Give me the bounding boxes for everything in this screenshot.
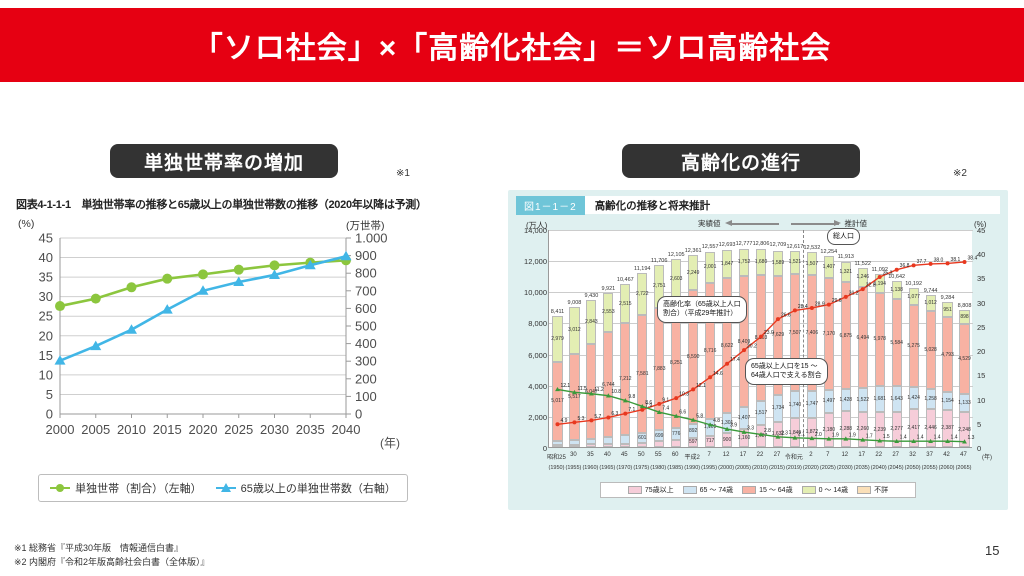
right-chart-y2tick: 15 bbox=[977, 371, 997, 380]
left-chart-ytick: 15 bbox=[39, 348, 53, 363]
right-chart-line-value: 38.1 bbox=[951, 257, 961, 263]
right-chart-line-value: 4.8 bbox=[713, 418, 720, 424]
left-chart-xtick: 2010 bbox=[117, 422, 146, 437]
right-chart-line-value: 38.4 bbox=[968, 255, 978, 261]
right-chart-line-point bbox=[606, 415, 610, 419]
legend-swatch-icon bbox=[683, 486, 697, 494]
right-legend-item-0: 75歳以上 bbox=[628, 485, 674, 495]
right-chart-line-value: 20.2 bbox=[747, 344, 757, 350]
right-chart-lines: 4.95.35.76.37.17.99.110.312.114.617.420.… bbox=[549, 230, 973, 448]
left-chart-xtick: 2020 bbox=[189, 422, 218, 437]
right-chart-y2tick: 35 bbox=[977, 274, 997, 283]
right-chart-line-point bbox=[657, 402, 661, 406]
right-chart-line-value: 37.7 bbox=[917, 259, 927, 265]
right-chart-line-point bbox=[793, 308, 797, 312]
left-chart-xtick: 2015 bbox=[153, 422, 182, 437]
right-chart-line-value: 3.9 bbox=[730, 423, 737, 429]
right-legend-label: 15 ～ 64歳 bbox=[759, 485, 792, 495]
green-line-marker-icon bbox=[50, 487, 70, 489]
callout-total-population: 総人口 bbox=[827, 228, 860, 245]
left-chart-svg: 0510152025303540450100200300400500600700… bbox=[16, 234, 416, 434]
right-chart-line-value: 31.2 bbox=[849, 290, 859, 296]
right-chart-y2tick: 20 bbox=[977, 347, 997, 356]
left-chart-xtick: 2000 bbox=[46, 422, 75, 437]
right-chart-line-point bbox=[878, 275, 882, 279]
left-chart-point bbox=[234, 265, 244, 275]
legend-swatch-icon bbox=[857, 486, 871, 494]
right-chart-line-value: 17.4 bbox=[730, 357, 740, 363]
left-chart-x-unit: (年) bbox=[380, 434, 400, 451]
right-chart-year-label: (2065) bbox=[952, 465, 976, 471]
left-chart-y2tick: 300 bbox=[355, 354, 377, 369]
right-chart-legend: 75歳以上65 ～ 74歳15 ～ 64歳0 ～ 14歳不詳 bbox=[600, 482, 916, 498]
right-legend-item-1: 65 ～ 74歳 bbox=[683, 485, 733, 495]
right-chart-line-value: 1.4 bbox=[917, 435, 924, 441]
footnotes: ※1 総務省『平成30年版 情報通信白書』 ※2 内閣府『令和2年版高齢社会白書… bbox=[14, 542, 210, 569]
right-chart-head-title: 高齢化の推移と将来推計 bbox=[595, 198, 711, 213]
blue-triangle-marker-icon bbox=[216, 487, 236, 489]
right-chart-line-point bbox=[895, 268, 899, 272]
arrow-right-icon bbox=[785, 221, 841, 226]
left-chart-ytick: 25 bbox=[39, 309, 53, 324]
left-chart-xtick: 2035 bbox=[296, 422, 325, 437]
right-chart-line-value: 9.8 bbox=[628, 394, 635, 400]
right-chart-line-point bbox=[623, 412, 627, 416]
left-chart-point bbox=[198, 269, 208, 279]
right-chart-y2tick: 30 bbox=[977, 299, 997, 308]
right-chart-line-value: 1.4 bbox=[900, 435, 907, 441]
right-chart-y2tick: 25 bbox=[977, 323, 997, 332]
callout-support-ratio: 65歳以上人口を15 ～ 64歳人口で支える割合 bbox=[745, 358, 828, 385]
right-chart-line-value: 1.3 bbox=[968, 435, 975, 441]
footnote-1: ※1 総務省『平成30年版 情報通信白書』 bbox=[14, 542, 210, 556]
legend-swatch-icon bbox=[742, 486, 756, 494]
right-chart-line-value: 2.8 bbox=[764, 428, 771, 434]
footnote-ref-2: ※2 bbox=[953, 168, 967, 179]
right-chart-line-value: 5.7 bbox=[594, 414, 601, 420]
left-chart-ytick: 20 bbox=[39, 328, 53, 343]
left-chart-y2tick: 400 bbox=[355, 336, 377, 351]
left-chart-y2tick: 1.000 bbox=[355, 231, 388, 246]
right-chart-line-value: 32.8 bbox=[866, 283, 876, 289]
right-legend-item-4: 不詳 bbox=[857, 485, 888, 495]
left-chart-ytick: 10 bbox=[39, 367, 53, 382]
right-chart-line-point bbox=[691, 387, 695, 391]
right-chart-line-value: 7.1 bbox=[628, 407, 635, 413]
right-chart-tag: 図1－1－2 bbox=[516, 196, 585, 215]
right-chart-line-value: 8.6 bbox=[645, 400, 652, 406]
right-chart-line-value: 1.7 bbox=[866, 433, 873, 439]
left-chart-y2tick: 900 bbox=[355, 248, 377, 263]
legend-swatch-icon bbox=[628, 486, 642, 494]
right-chart-y2tick: 40 bbox=[977, 250, 997, 259]
left-chart-point bbox=[55, 301, 65, 311]
left-chart-xtick: 2025 bbox=[224, 422, 253, 437]
right-chart-line-value: 9.1 bbox=[662, 397, 669, 403]
left-chart-point bbox=[162, 274, 172, 284]
right-legend-label: 75歳以上 bbox=[645, 485, 674, 495]
span-label-actual: 実績値 bbox=[698, 218, 721, 229]
left-chart-y2tick: 700 bbox=[355, 283, 377, 298]
right-chart-line-point bbox=[912, 263, 916, 267]
arrow-left-icon bbox=[725, 221, 781, 226]
right-chart-ytick: 0 bbox=[513, 444, 547, 453]
right-chart-line-value: 4.9 bbox=[560, 418, 567, 424]
right-chart-line-value: 11.2 bbox=[594, 387, 604, 393]
right-chart-line-value: 1.5 bbox=[883, 434, 890, 440]
left-chart-xtick: 2005 bbox=[81, 422, 110, 437]
footnote-2: ※2 内閣府『令和2年版高齢社会白書（全体版）』 bbox=[14, 556, 210, 570]
right-chart-line-value: 23.0 bbox=[764, 330, 774, 336]
left-chart-y2tick: 0 bbox=[355, 407, 362, 422]
right-chart-line-point bbox=[827, 303, 831, 307]
right-chart-line-point bbox=[810, 306, 814, 310]
right-chart-line-point bbox=[946, 261, 950, 265]
right-chart-line-value: 7.4 bbox=[662, 406, 669, 412]
right-chart-ytick: 14,000 bbox=[513, 226, 547, 235]
right-chart-ytick: 6,000 bbox=[513, 351, 547, 360]
right-chart-line-value: 35.3 bbox=[883, 270, 893, 276]
right-legend-label: 不詳 bbox=[874, 485, 888, 495]
title-banner: 「ソロ社会」×「高齢化社会」＝ソロ高齢社会 bbox=[0, 8, 1024, 82]
left-chart-ytick: 0 bbox=[46, 407, 53, 422]
legend-item-elderly-single-households: 65歳以上の単独世帯数（右軸） bbox=[216, 480, 396, 496]
right-chart-line-value: 10.3 bbox=[679, 392, 689, 398]
right-chart-line-value: 2.1 bbox=[798, 431, 805, 437]
right-chart-line-value: 36.8 bbox=[900, 263, 910, 269]
right-chart-line-value: 6.6 bbox=[679, 410, 686, 416]
right-chart-line-point bbox=[725, 362, 729, 366]
left-chart-y2tick: 600 bbox=[355, 301, 377, 316]
right-chart-line-value: 14.6 bbox=[713, 371, 723, 377]
right-chart-ytick: 2,000 bbox=[513, 413, 547, 422]
left-chart-ytick: 35 bbox=[39, 270, 53, 285]
right-chart-line-value: 1.9 bbox=[849, 432, 856, 438]
right-chart-line-value: 1.9 bbox=[832, 432, 839, 438]
right-chart-line-point bbox=[674, 396, 678, 400]
left-chart-legend: 単独世帯（割合）（左軸） 65歳以上の単独世帯数（右軸） bbox=[38, 474, 408, 502]
right-chart-ytick: 10,000 bbox=[513, 288, 547, 297]
right-chart-line-value: 11.5 bbox=[577, 386, 587, 392]
right-chart-ytick: 8,000 bbox=[513, 319, 547, 328]
right-chart-line-value: 12.1 bbox=[560, 383, 570, 389]
right-chart-line-value: 1.4 bbox=[951, 435, 958, 441]
left-chart-ytick: 45 bbox=[39, 231, 53, 246]
callout-aging-rate: 高齢化率（65歳以上人口 割合）（平成29年推計） bbox=[657, 296, 747, 323]
legend-label-1: 65歳以上の単独世帯数（右軸） bbox=[241, 480, 396, 496]
right-chart-ytick: 4,000 bbox=[513, 382, 547, 391]
right-chart-line-value: 5.8 bbox=[696, 413, 703, 419]
legend-item-single-household-ratio: 単独世帯（割合）（左軸） bbox=[50, 480, 202, 496]
right-chart-line-value: 38.0 bbox=[934, 257, 944, 263]
right-chart-line-point bbox=[861, 287, 865, 291]
right-chart-line-value: 2.3 bbox=[781, 430, 788, 436]
right-chart-line-point bbox=[776, 317, 780, 321]
legend-label-0: 単独世帯（割合）（左軸） bbox=[75, 480, 202, 496]
legend-swatch-icon bbox=[802, 486, 816, 494]
right-legend-item-2: 15 ～ 64歳 bbox=[742, 485, 792, 495]
right-chart-plot: 02,0004,0006,0008,00010,00012,00014,0000… bbox=[548, 230, 972, 448]
footnote-ref-1: ※1 bbox=[396, 168, 410, 179]
right-chart-line-point bbox=[708, 375, 712, 379]
left-chart-y2tick: 800 bbox=[355, 266, 377, 281]
right-chart-line-point bbox=[963, 260, 967, 264]
right-chart-line-value: 29.6 bbox=[832, 298, 842, 304]
left-chart-y2tick: 100 bbox=[355, 389, 377, 404]
right-chart-figure: 図1－1－2 高齢化の推移と将来推計 (万人) (%) 実績値 推計値 02,0… bbox=[508, 190, 1008, 510]
right-chart-line-point bbox=[759, 335, 763, 339]
right-chart-era-label: 47 bbox=[953, 452, 975, 458]
left-chart-ytick: 30 bbox=[39, 289, 53, 304]
right-chart-line-value: 28.9 bbox=[815, 301, 825, 307]
right-chart-y2tick: 5 bbox=[977, 420, 997, 429]
left-chart-y-unit: (%) bbox=[18, 218, 34, 230]
left-chart-plot: 0510152025303540450100200300400500600700… bbox=[16, 234, 416, 462]
right-chart-line-value: 12.1 bbox=[696, 383, 706, 389]
left-chart-point bbox=[270, 260, 280, 270]
right-chart-y2tick: 45 bbox=[977, 226, 997, 235]
right-legend-item-3: 0 ～ 14歳 bbox=[802, 485, 849, 495]
right-chart-line-point bbox=[555, 422, 559, 426]
left-chart-xtick: 2040 bbox=[332, 422, 361, 437]
right-chart-line-value: 1.4 bbox=[934, 435, 941, 441]
right-chart-line-point bbox=[572, 420, 576, 424]
left-chart-point bbox=[91, 294, 101, 304]
section-pill-single-household: 単独世帯率の増加 bbox=[110, 144, 338, 178]
section-pill-aging: 高齢化の進行 bbox=[622, 144, 860, 178]
page-number: 15 bbox=[985, 543, 999, 558]
right-chart-header: 図1－1－2 高齢化の推移と将来推計 bbox=[516, 196, 1000, 214]
left-chart-caption: 図表4-1-1-1 単独世帯率の推移と65歳以上の単独世帯数の推移（2020年以… bbox=[16, 196, 416, 212]
right-chart-line-point bbox=[929, 262, 933, 266]
right-chart-line-value: 6.3 bbox=[611, 411, 618, 417]
right-chart-line-point bbox=[844, 295, 848, 299]
left-chart-point bbox=[127, 282, 137, 292]
right-chart-ytick: 12,000 bbox=[513, 257, 547, 266]
right-chart-line-value: 2.0 bbox=[815, 432, 822, 438]
left-chart-figure: 図表4-1-1-1 単独世帯率の推移と65歳以上の単独世帯数の推移（2020年以… bbox=[16, 196, 416, 512]
left-chart-ytick: 5 bbox=[46, 387, 53, 402]
right-chart-line-point bbox=[640, 408, 644, 412]
page-title: 「ソロ社会」×「高齢化社会」＝ソロ高齢社会 bbox=[193, 23, 832, 67]
right-chart-y2tick: 10 bbox=[977, 396, 997, 405]
right-chart-line-point bbox=[589, 418, 593, 422]
right-legend-label: 65 ～ 74歳 bbox=[700, 485, 733, 495]
right-legend-label: 0 ～ 14歳 bbox=[819, 485, 849, 495]
right-chart-line-point bbox=[742, 348, 746, 352]
right-chart-line-value: 10.8 bbox=[611, 389, 621, 395]
right-chart-line-value: 26.6 bbox=[781, 313, 791, 319]
left-chart-xtick: 2030 bbox=[260, 422, 289, 437]
right-chart-line-value: 3.3 bbox=[747, 426, 754, 432]
right-chart-line-value: 28.4 bbox=[798, 304, 808, 310]
right-chart-line-value: 5.3 bbox=[577, 416, 584, 422]
left-chart-y2tick: 500 bbox=[355, 319, 377, 334]
left-chart-y2tick: 200 bbox=[355, 371, 377, 386]
left-chart-ytick: 40 bbox=[39, 250, 53, 265]
right-chart-x-unit: (年) bbox=[976, 452, 998, 461]
